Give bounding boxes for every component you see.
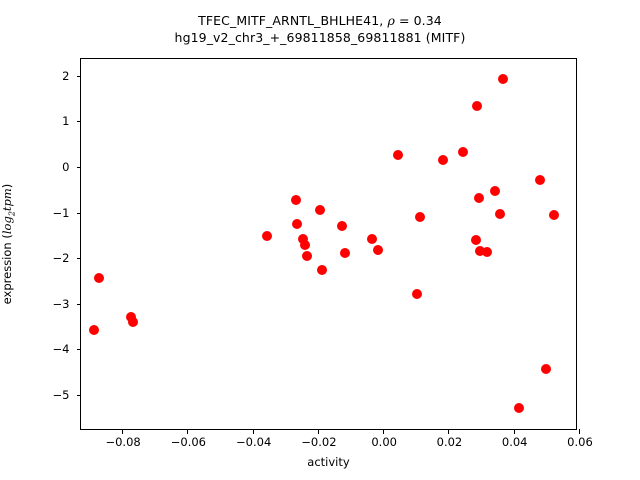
scatter-point [514, 403, 524, 413]
x-axis-label: activity [80, 455, 577, 469]
scatter-point [471, 235, 481, 245]
y-tick: −4 [77, 349, 82, 350]
x-tick-label: −0.06 [171, 435, 206, 449]
scatter-point [495, 209, 505, 219]
y-tick: −5 [77, 395, 82, 396]
y-tick: −3 [77, 304, 82, 305]
scatter-point [128, 317, 138, 327]
scatter-point [262, 231, 272, 241]
y-tick: 1 [77, 121, 82, 122]
y-tick-label: 2 [62, 69, 69, 83]
scatter-point [541, 364, 551, 374]
x-tick-label: 0.06 [567, 435, 593, 449]
x-tick: −0.08 [122, 429, 123, 434]
scatter-point [302, 251, 312, 261]
x-tick-label: −0.02 [301, 435, 336, 449]
y-tick-label: −2 [53, 251, 70, 265]
scatter-point [373, 245, 383, 255]
x-tick: 0.06 [579, 429, 580, 434]
chart-title-line-1: TFEC_MITF_ARNTL_BHLHE41, ρ = 0.34 [0, 12, 640, 29]
scatter-point [393, 150, 403, 160]
rho-symbol: ρ [387, 13, 394, 28]
scatter-point [412, 289, 422, 299]
scatter-point [367, 234, 377, 244]
scatter-point [482, 247, 492, 257]
y-axis-label-log: log [0, 216, 14, 234]
scatter-point [474, 193, 484, 203]
scatter-point [549, 210, 559, 220]
x-tick-label: −0.04 [236, 435, 271, 449]
scatter-point [317, 265, 327, 275]
scatter-plot-area [81, 59, 576, 429]
rho-value: = 0.34 [395, 13, 442, 28]
x-tick: −0.06 [187, 429, 188, 434]
chart-title-line-2: hg19_v2_chr3_+_69811858_69811881 (MITF) [0, 29, 640, 46]
y-axis-label-sub: 2 [7, 211, 16, 216]
y-tick: −1 [77, 213, 82, 214]
y-tick-label: −1 [53, 206, 70, 220]
y-axis-label-tpm: tpm [0, 188, 14, 211]
x-tick: 0.04 [514, 429, 515, 434]
x-tick: 0.02 [448, 429, 449, 434]
y-tick-label: 0 [62, 160, 69, 174]
scatter-point [292, 219, 302, 229]
y-tick-label: −3 [53, 297, 70, 311]
scatter-point [438, 155, 448, 165]
scatter-point [337, 221, 347, 231]
y-axis-label-prefix: expression ( [0, 234, 14, 304]
x-tick-label: 0.02 [437, 435, 463, 449]
plot-axes: 210−1−2−3−4−5 −0.08−0.06−0.04−0.020.000.… [80, 58, 577, 430]
scatter-point [340, 248, 350, 258]
x-tick-label: 0.00 [371, 435, 397, 449]
x-tick: −0.04 [253, 429, 254, 434]
scatter-point [315, 205, 325, 215]
scatter-point [415, 212, 425, 222]
scatter-point [94, 273, 104, 283]
y-axis-label-suffix: ) [0, 184, 14, 189]
y-tick-label: 1 [62, 114, 69, 128]
y-tick: −2 [77, 258, 82, 259]
y-tick: 0 [77, 167, 82, 168]
y-tick-label: −5 [53, 388, 70, 402]
scatter-point [498, 74, 508, 84]
scatter-point [300, 240, 310, 250]
x-tick: −0.02 [318, 429, 319, 434]
scatter-point [490, 186, 500, 196]
figure-canvas: TFEC_MITF_ARNTL_BHLHE41, ρ = 0.34 hg19_v… [0, 0, 640, 480]
y-tick: 2 [77, 76, 82, 77]
x-tick-label: 0.04 [502, 435, 528, 449]
y-axis-label: expression (log2tpm) [0, 58, 18, 430]
x-tick-label: −0.08 [105, 435, 140, 449]
scatter-point [472, 101, 482, 111]
x-tick: 0.00 [383, 429, 384, 434]
chart-title: TFEC_MITF_ARNTL_BHLHE41, ρ = 0.34 hg19_v… [0, 12, 640, 46]
title-prefix: TFEC_MITF_ARNTL_BHLHE41, [198, 13, 387, 28]
scatter-point [535, 175, 545, 185]
scatter-point [291, 195, 301, 205]
scatter-point [89, 325, 99, 335]
scatter-point [458, 147, 468, 157]
y-tick-label: −4 [53, 342, 70, 356]
